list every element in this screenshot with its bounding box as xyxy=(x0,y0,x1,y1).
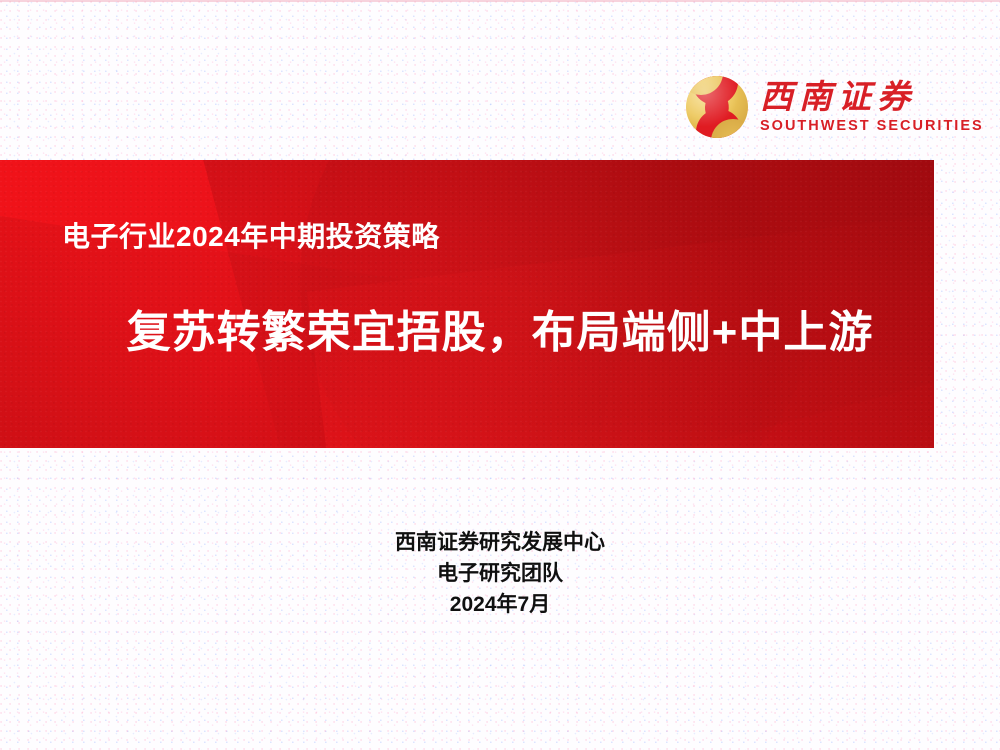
brand-wordmark: 西南证券 SOUTHWEST SECURITIES xyxy=(760,80,984,134)
southwest-securities-swirl-logo-icon xyxy=(686,76,748,138)
presentation-cover-slide: 西南证券 SOUTHWEST SECURITIES 电子行业2024年中期投资策… xyxy=(0,0,1000,750)
credits-block: 西南证券研究发展中心 电子研究团队 2024年7月 xyxy=(0,527,1000,620)
credits-organization: 西南证券研究发展中心 xyxy=(0,527,1000,558)
top-hairline-divider xyxy=(0,0,1000,2)
report-subtitle: 电子行业2024年中期投资策略 xyxy=(62,215,440,255)
brand-name-en: SOUTHWEST SECURITIES xyxy=(760,118,984,134)
brand-name-cn: 西南证券 xyxy=(760,80,984,115)
credits-team: 电子研究团队 xyxy=(0,558,1000,589)
report-headline: 复苏转繁荣宜捂股，布局端侧+中上游 xyxy=(0,296,1000,360)
credits-date: 2024年7月 xyxy=(0,589,1000,620)
logo-sheen xyxy=(686,76,748,138)
brand-lockup: 西南证券 SOUTHWEST SECURITIES xyxy=(686,76,984,138)
